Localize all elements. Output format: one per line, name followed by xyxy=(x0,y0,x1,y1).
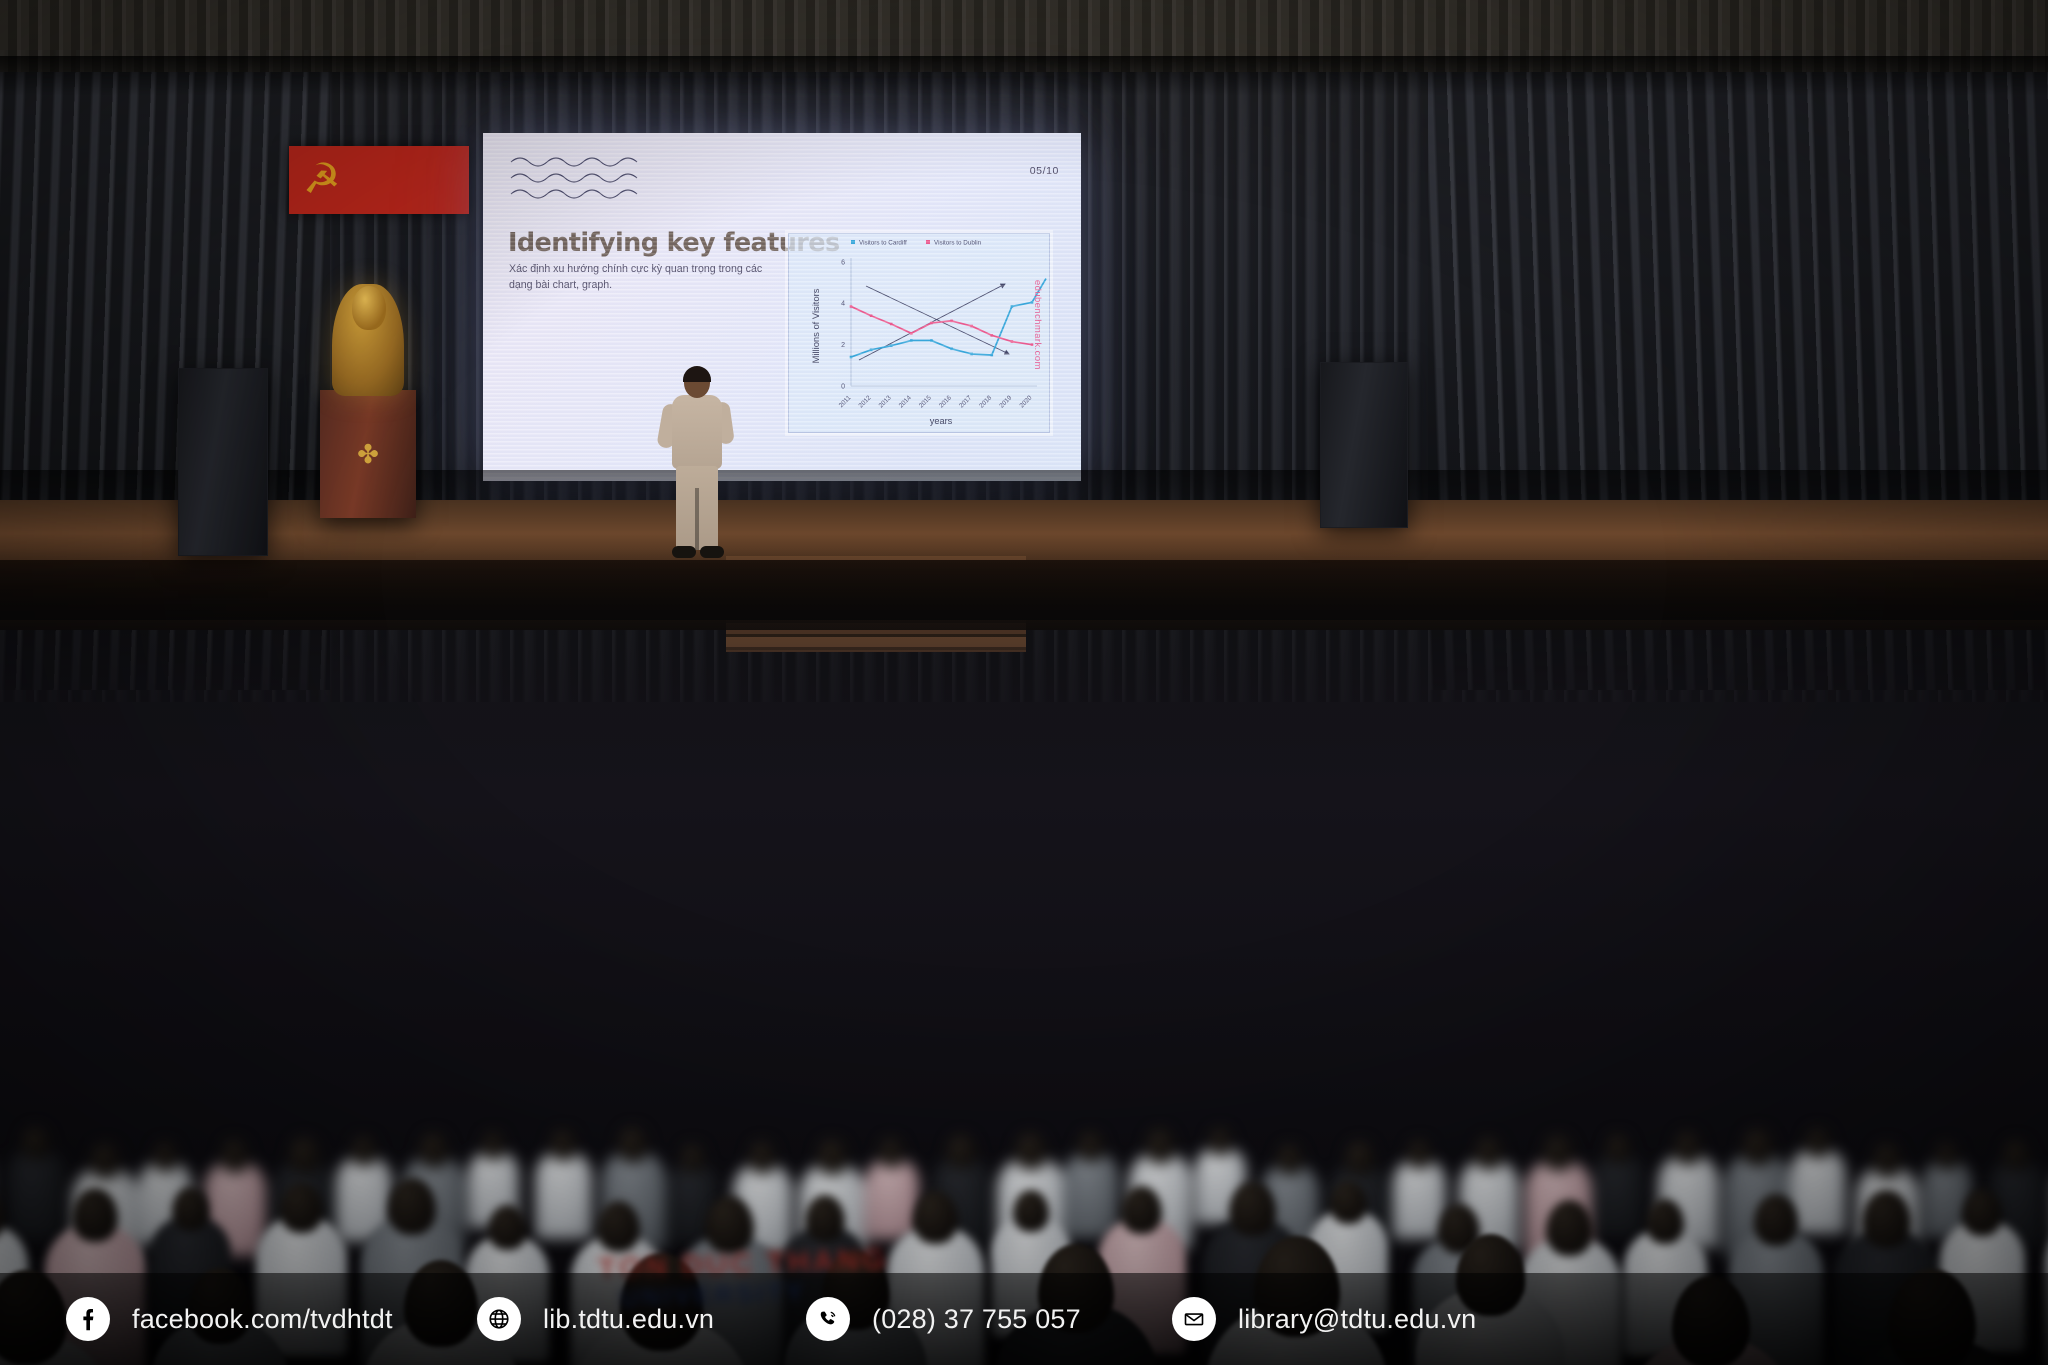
legend-label-dublin: Visitors to Dublin xyxy=(934,240,982,247)
footer-item-website[interactable]: lib.tdtu.edu.vn xyxy=(477,1297,714,1341)
chart-point xyxy=(930,322,933,325)
audience-person-head xyxy=(749,1141,777,1174)
audience-person-head xyxy=(72,1188,118,1243)
chart-point xyxy=(870,314,873,317)
chart-x-tick-label: 2019 xyxy=(998,394,1013,409)
auditorium-scene: ☭ 05/10 Identifying key features Xác địn… xyxy=(0,0,2048,1365)
audience-person-head xyxy=(1962,1189,2002,1236)
presenter xyxy=(660,368,732,560)
audience-person-head xyxy=(1475,1137,1503,1170)
audience-person-head xyxy=(1015,1133,1047,1171)
audience-seating: TON DUC THANG UNIVERSITY TON DUC THANG U… xyxy=(0,548,2048,1365)
audience-person-head xyxy=(1543,1135,1574,1172)
audience-person-body xyxy=(1790,1148,1846,1234)
chart-point xyxy=(850,356,853,359)
slide-page-indicator: 05/10 xyxy=(1030,165,1059,177)
ceiling-shadow xyxy=(0,56,2048,96)
audience-person-head xyxy=(289,1137,321,1175)
audience-person-head xyxy=(1345,1141,1375,1177)
chart-x-tick-label: 2013 xyxy=(878,394,893,409)
chart-legend: Visitors to Cardiff Visitors to Dublin xyxy=(851,240,982,247)
footer-item-phone[interactable]: (028) 37 755 057 xyxy=(806,1297,1081,1341)
audience-person-head xyxy=(221,1139,250,1173)
chart-y-tick-label: 6 xyxy=(841,259,845,266)
chart-line-visitors-to-cardiff xyxy=(851,302,1032,357)
audience-person-head xyxy=(1229,1182,1275,1237)
audience-person-head xyxy=(482,1132,505,1160)
audience-person-head xyxy=(388,1178,436,1234)
chart-point xyxy=(870,349,873,352)
chart-x-tick-label: 2016 xyxy=(938,394,953,409)
chart-x-ticks: 2011201220132014201520162017201820192020 xyxy=(838,394,1034,409)
chart-x-tick-label: 2011 xyxy=(838,394,853,409)
audience-person-head xyxy=(681,1144,705,1173)
chart-point xyxy=(970,325,973,328)
audience-person-head xyxy=(1754,1194,1798,1246)
party-emblem-icon: ☭ xyxy=(303,156,355,204)
audience-person-head xyxy=(1935,1142,1958,1170)
audience-person-head xyxy=(90,1143,121,1180)
audience-person-head xyxy=(947,1135,976,1169)
footer-label-phone: (028) 37 755 057 xyxy=(872,1304,1081,1335)
audience-person-head xyxy=(488,1205,527,1250)
legend-swatch-cardiff xyxy=(851,240,855,244)
chart-point xyxy=(1011,340,1014,343)
footer-item-email[interactable]: library@tdtu.edu.vn xyxy=(1172,1297,1476,1341)
chart-watermark: edubenchmark.com xyxy=(1032,280,1043,370)
loudspeaker-left xyxy=(178,368,268,556)
projection-screen: 05/10 Identifying key features Xác định … xyxy=(483,133,1081,481)
chart-point xyxy=(950,320,953,323)
audience-person-head xyxy=(1277,1144,1304,1176)
audience-person-head xyxy=(280,1183,322,1233)
audience-person-body xyxy=(535,1151,593,1240)
audience-person-head xyxy=(1805,1128,1831,1159)
audience-person-head xyxy=(1873,1143,1902,1178)
audience-person-head xyxy=(153,1142,178,1172)
audience-person-head xyxy=(419,1133,448,1168)
chart-x-tick-label: 2012 xyxy=(858,394,873,409)
chart-point xyxy=(890,323,893,326)
audience-person-body xyxy=(1592,1154,1646,1237)
legend-swatch-dublin xyxy=(926,240,930,244)
audience-person-body xyxy=(1063,1152,1119,1238)
audience-person-head xyxy=(1330,1181,1367,1225)
audience-person-head xyxy=(817,1139,848,1176)
phone-icon xyxy=(806,1297,850,1341)
audience-person-head xyxy=(351,1136,377,1167)
chart-point xyxy=(930,339,933,342)
chart-point xyxy=(990,334,993,337)
loudspeaker-right xyxy=(1320,362,1408,528)
contact-footer-bar: facebook.com/tvdhtdt lib.tdtu.edu.vn (02… xyxy=(0,1273,2048,1365)
chart-point xyxy=(910,339,913,342)
chart-point xyxy=(850,305,853,308)
presenter-hair xyxy=(683,366,711,382)
audience-person-head xyxy=(705,1196,754,1254)
audience-person-head xyxy=(913,1191,958,1244)
audience-person-head xyxy=(1146,1129,1175,1164)
podium: ✤ xyxy=(320,390,416,518)
audience-person-head xyxy=(22,1127,50,1160)
audience-person-head xyxy=(618,1127,648,1163)
presenter-torso xyxy=(672,395,722,469)
lotus-emblem-icon: ✤ xyxy=(346,438,390,472)
audience-person-body xyxy=(6,1149,66,1240)
chart-x-tick-label: 2018 xyxy=(978,394,993,409)
audience-person-head xyxy=(805,1195,845,1242)
audience-person-head xyxy=(1078,1132,1104,1163)
globe-icon xyxy=(477,1297,521,1341)
slide-subtitle: Xác định xu hướng chính cực kỳ quan trọn… xyxy=(509,262,777,293)
audience-person-head xyxy=(1407,1140,1431,1169)
facebook-icon xyxy=(66,1297,110,1341)
chart-y-tick-label: 0 xyxy=(841,383,845,390)
vietnam-flag-panel: ☭ xyxy=(289,146,469,214)
audience-person-head xyxy=(1862,1190,1911,1248)
chart-x-tick-label: 2017 xyxy=(958,394,973,409)
chart-point xyxy=(890,344,893,347)
chart-x-tick-label: 2015 xyxy=(918,394,933,409)
footer-label-facebook: facebook.com/tvdhtdt xyxy=(132,1304,393,1335)
chart-x-tick-label: 2020 xyxy=(1018,394,1033,409)
audience-person-head xyxy=(1013,1190,1049,1232)
chart-y-tick-label: 2 xyxy=(841,342,845,349)
flag-star-icon xyxy=(397,154,449,206)
legend-label-cardiff: Visitors to Cardiff xyxy=(859,240,907,247)
audience-person-body xyxy=(865,1158,919,1241)
audience-person-head xyxy=(1606,1134,1631,1164)
audience-person-head xyxy=(550,1130,577,1162)
footer-label-website: lib.tdtu.edu.vn xyxy=(543,1304,714,1335)
chart-point xyxy=(910,332,913,335)
chart-point xyxy=(970,353,973,356)
chart-y-tick-label: 4 xyxy=(841,301,845,308)
chart-point xyxy=(1011,305,1014,308)
wavy-lines-decoration xyxy=(509,153,654,205)
chart-series-layer xyxy=(850,279,1046,359)
chart-point xyxy=(950,348,953,351)
chart-x-axis-label: years xyxy=(930,416,953,426)
audience-person-head xyxy=(1742,1129,1774,1167)
bust-head xyxy=(352,286,386,330)
audience-person-head xyxy=(879,1138,904,1168)
chart-y-ticks: 0246 xyxy=(841,259,845,390)
chart-y-axis-label: Millions of Visitors xyxy=(810,288,821,363)
email-icon xyxy=(1172,1297,1216,1341)
line-chart-svg: Visitors to Cardiff Visitors to Dublin 0… xyxy=(789,234,1047,430)
footer-item-facebook[interactable]: facebook.com/tvdhtdt xyxy=(66,1297,393,1341)
audience-person-head xyxy=(1209,1128,1232,1156)
footer-label-email: library@tdtu.edu.vn xyxy=(1238,1304,1476,1335)
chart-x-tick-label: 2014 xyxy=(898,394,913,409)
slide-chart: Visitors to Cardiff Visitors to Dublin 0… xyxy=(788,233,1050,433)
presenter-leg-gap xyxy=(695,488,699,550)
audience-person-head xyxy=(2003,1140,2030,1172)
audience-person-head xyxy=(1674,1131,1703,1165)
chart-point xyxy=(990,354,993,357)
